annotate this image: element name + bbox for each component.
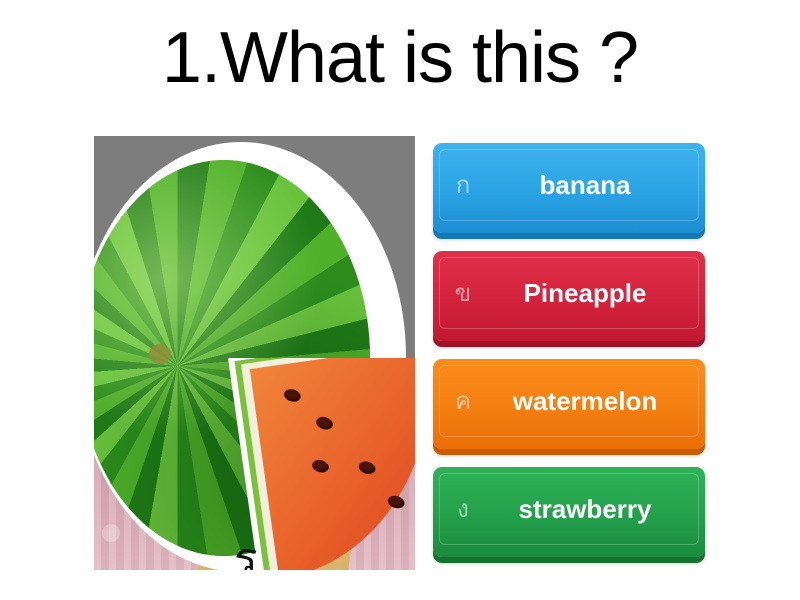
watermelon-seed	[315, 415, 335, 431]
answer-label-d: strawberry	[483, 494, 695, 525]
answer-option-a[interactable]: ก banana	[433, 143, 705, 233]
answer-label-c: watermelon	[483, 386, 695, 417]
watermelon-seed	[282, 387, 302, 403]
answer-label-b: Pineapple	[483, 278, 695, 309]
wedge-flesh	[250, 358, 415, 570]
answer-letter-a: ก	[443, 173, 483, 197]
page-title: 1.What is this ?	[0, 8, 800, 108]
answer-letter-b: ข	[443, 281, 483, 305]
question-image: ร	[94, 136, 415, 570]
image-bottom-glyph: ร	[234, 538, 258, 570]
watermelon-seed	[386, 494, 406, 510]
answer-letter-c: ค	[443, 389, 483, 413]
answer-list: ก banana ข Pineapple ค watermelon ง stra…	[433, 143, 705, 575]
answer-option-b[interactable]: ข Pineapple	[433, 251, 705, 341]
watermelon-stem-nub	[149, 344, 171, 364]
answer-option-c[interactable]: ค watermelon	[433, 359, 705, 449]
watermelon-seed	[311, 458, 331, 474]
answer-letter-d: ง	[443, 497, 483, 521]
watermelon-seed	[357, 459, 377, 475]
quiz-slide: 1.What is this ?	[0, 0, 800, 600]
answer-label-a: banana	[483, 170, 695, 201]
answer-option-d[interactable]: ง strawberry	[433, 467, 705, 557]
